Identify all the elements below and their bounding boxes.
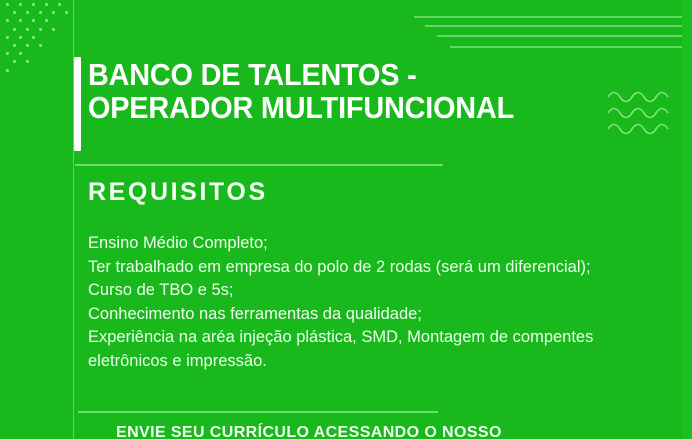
requirement-line: Ter trabalhado em empresa do polo de 2 r…: [88, 256, 633, 280]
requirement-line: Experiência na aréa injeção plástica, SM…: [88, 326, 633, 373]
divider-above-section: [75, 164, 443, 166]
dot-grid-pattern-icon: [6, 3, 68, 75]
requirements-list: Ensino Médio Completo; Ter trabalhado em…: [88, 232, 633, 373]
requirement-line: Conhecimento nas ferramentas da qualidad…: [88, 303, 633, 327]
section-heading-requisitos: REQUISITOS: [88, 178, 268, 207]
page-title: BANCO DE TALENTOS - OPERADOR MULTIFUNCIO…: [88, 58, 590, 124]
footer-cta-text: ENVIE SEU CURRÍCULO ACESSANDO O NOSSO: [116, 424, 502, 439]
title-line-1: BANCO DE TALENTOS -: [88, 57, 417, 92]
requirement-line: Ensino Médio Completo;: [88, 232, 633, 256]
right-edge-band: [682, 0, 692, 439]
title-line-2: OPERADOR MULTIFUNCIONAL: [88, 91, 590, 124]
title-accent-bar: [74, 57, 81, 151]
job-posting-poster: BANCO DE TALENTOS - OPERADOR MULTIFUNCIO…: [0, 0, 692, 439]
divider-above-footer: [78, 411, 438, 413]
poster-content: BANCO DE TALENTOS - OPERADOR MULTIFUNCIO…: [88, 0, 648, 439]
requirement-line: Curso de TBO e 5s;: [88, 279, 633, 303]
